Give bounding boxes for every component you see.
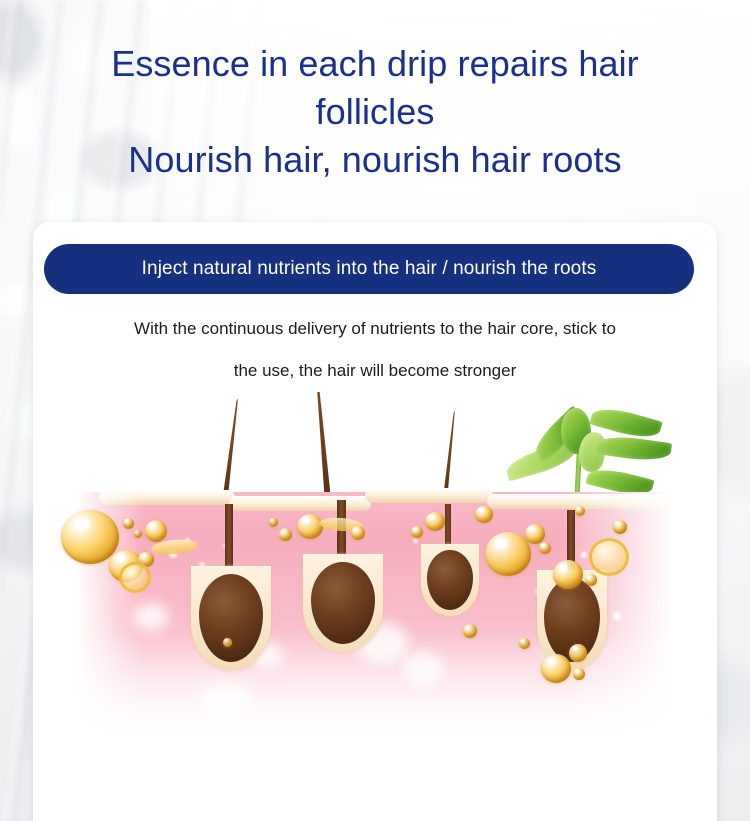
oil-droplet-7 (297, 514, 323, 539)
description-line-2: the use, the hair will become stronger (53, 350, 697, 392)
oil-droplet-22 (519, 638, 530, 649)
epidermis-strip-2 (229, 496, 371, 511)
oil-droplet-16 (475, 506, 493, 523)
headline-line-3: Nourish hair, nourish hair roots (0, 136, 750, 184)
oil-droplet-19 (585, 574, 597, 586)
oil-droplet-24 (541, 654, 571, 683)
oil-droplet-3 (145, 520, 167, 542)
sprout-leaf-6 (594, 433, 672, 464)
oil-droplet-large-left (61, 510, 119, 564)
description-text: With the continuous delivery of nutrient… (53, 308, 697, 392)
oil-droplet-8 (279, 528, 292, 541)
content-card: Inject natural nutrients into the hair /… (33, 222, 717, 821)
banner-label: Inject natural nutrients into the hair /… (142, 258, 597, 280)
oil-droplet-21 (463, 624, 477, 638)
headline-line-2: follicles (0, 88, 750, 136)
oil-droplet-10 (351, 526, 365, 540)
oil-droplet-13 (485, 532, 531, 576)
oil-droplet-15 (539, 542, 551, 554)
oil-droplet-14 (525, 524, 545, 544)
headline-line-1: Essence in each drip repairs hair (111, 43, 639, 84)
oil-droplet-9 (269, 518, 278, 527)
oil-droplet-17 (553, 560, 583, 589)
banner-pill: Inject natural nutrients into the hair /… (44, 244, 694, 294)
product-marketing-image: Essence in each drip repairs hair follic… (0, 0, 750, 821)
oil-droplet-20 (575, 506, 585, 516)
oil-droplet-4 (123, 518, 134, 529)
oil-droplet-23 (223, 638, 232, 647)
oil-droplet-25 (569, 644, 587, 662)
epidermis-strip-3 (365, 488, 493, 503)
oil-droplet-18 (613, 520, 627, 534)
oil-ring-1 (589, 538, 629, 576)
follicle-illustration (33, 392, 717, 812)
page-title: Essence in each drip repairs hair follic… (0, 40, 750, 184)
illustration-bottom-fade (33, 756, 717, 812)
description-line-1: With the continuous delivery of nutrient… (53, 308, 697, 350)
oil-droplet-5 (134, 530, 142, 538)
oil-droplet-26 (573, 668, 585, 680)
oil-ring-2 (119, 562, 151, 593)
oil-droplet-11 (425, 512, 445, 531)
oil-droplet-12 (411, 526, 423, 538)
